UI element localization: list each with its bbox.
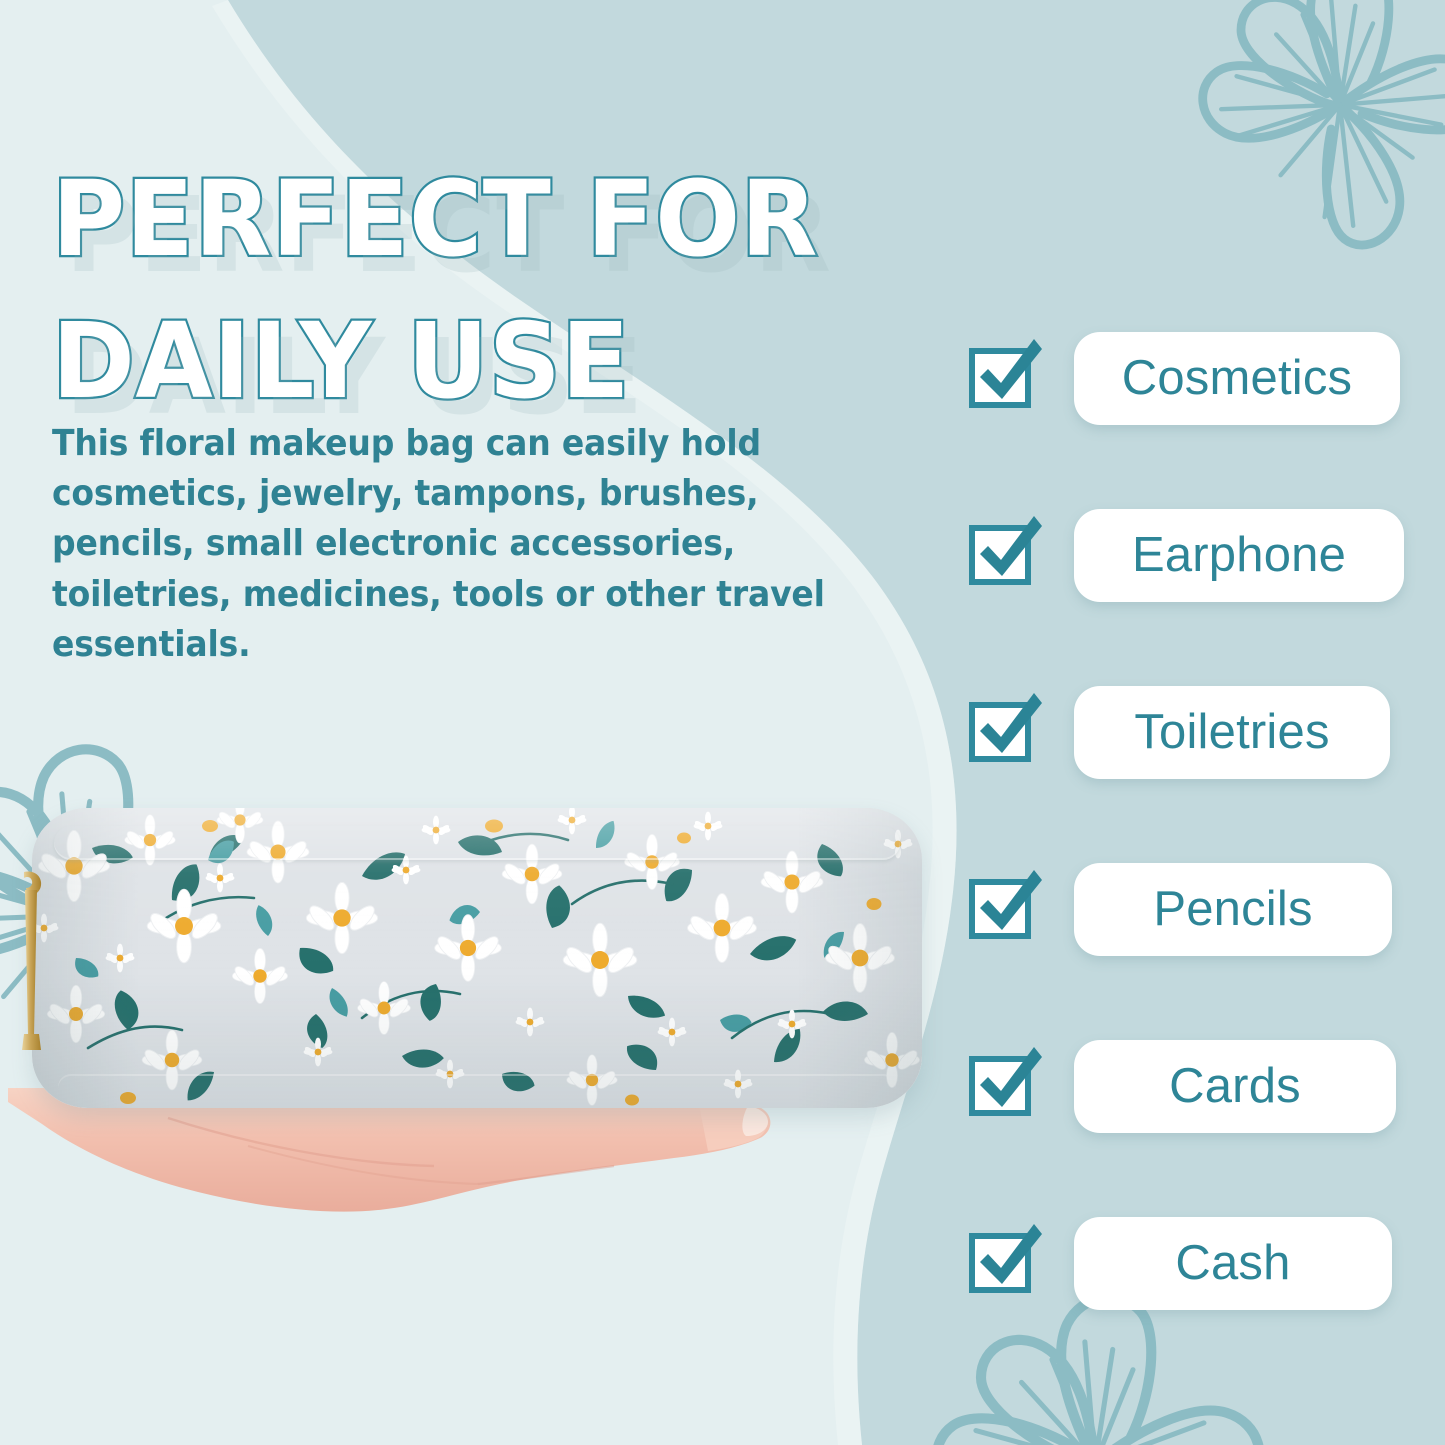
checkbox-checked-icon[interactable] xyxy=(968,691,1046,763)
feature-label: Cards xyxy=(1169,1062,1301,1111)
list-item[interactable]: Cards xyxy=(968,1040,1408,1217)
description-text: This floral makeup bag can easily hold c… xyxy=(52,419,894,671)
list-item[interactable]: Pencils xyxy=(968,863,1408,1040)
hand-holding-bag xyxy=(48,1088,838,1288)
feature-label: Pencils xyxy=(1153,885,1312,934)
makeup-bag xyxy=(32,808,922,1108)
feature-label: Cash xyxy=(1175,1239,1290,1288)
feature-label: Cosmetics xyxy=(1122,354,1353,403)
zipper-pull-icon xyxy=(10,868,56,1058)
checkbox-checked-icon[interactable] xyxy=(968,337,1046,409)
feature-pill[interactable]: Earphone xyxy=(1074,509,1404,602)
feature-pill[interactable]: Pencils xyxy=(1074,863,1392,956)
checkbox-checked-icon[interactable] xyxy=(968,1045,1046,1117)
list-item[interactable]: Cash xyxy=(968,1217,1408,1394)
list-item[interactable]: Earphone xyxy=(968,509,1408,686)
list-item[interactable]: Cosmetics xyxy=(968,332,1408,509)
feature-pill[interactable]: Cosmetics xyxy=(1074,332,1400,425)
checkbox-checked-icon[interactable] xyxy=(968,1222,1046,1294)
page-title: PERFECT FOR DAILY USE xyxy=(52,148,974,433)
feature-pill[interactable]: Cash xyxy=(1074,1217,1392,1310)
checkbox-checked-icon[interactable] xyxy=(968,514,1046,586)
feature-label: Earphone xyxy=(1132,531,1346,580)
feature-pill[interactable]: Cards xyxy=(1074,1040,1396,1133)
bag-floral-fabric xyxy=(32,808,922,1108)
checkbox-checked-icon[interactable] xyxy=(968,868,1046,940)
feature-label: Toiletries xyxy=(1134,708,1329,757)
product-banner: PERFECT FOR DAILY USE This floral makeup… xyxy=(0,0,1445,1445)
list-item[interactable]: Toiletries xyxy=(968,686,1408,863)
product-photo xyxy=(0,760,960,1260)
feature-pill[interactable]: Toiletries xyxy=(1074,686,1390,779)
feature-checklist: Cosmetics Earphone Toiletr xyxy=(968,332,1408,1394)
